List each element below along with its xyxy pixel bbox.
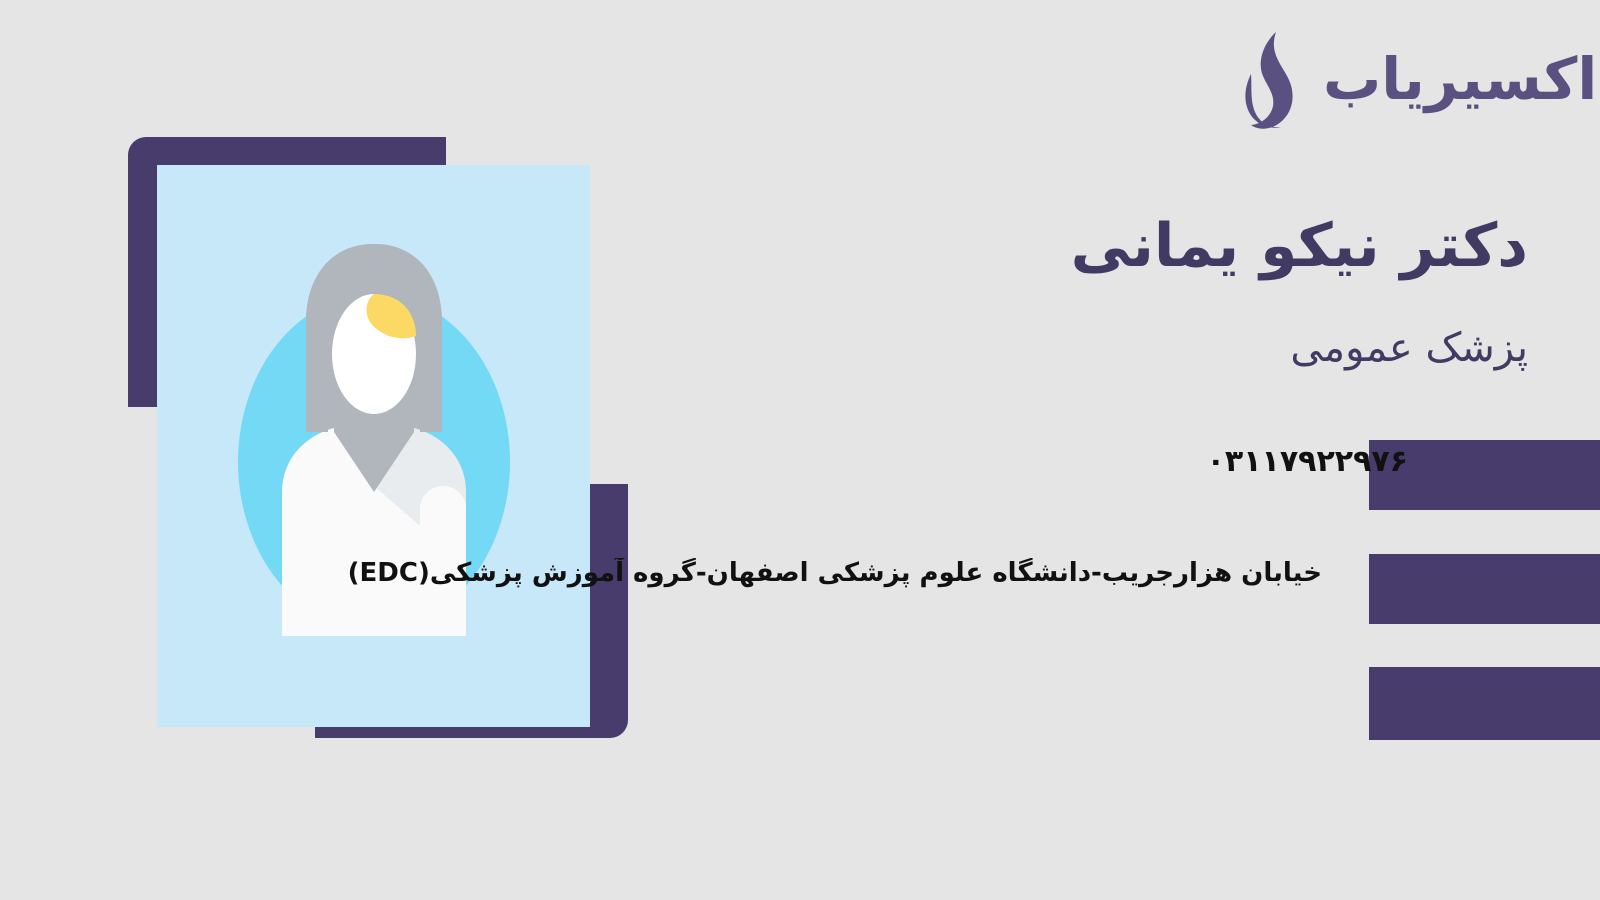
doctor-address: خیابان هزارجریب-دانشگاه علوم پزشکی اصفها…	[0, 558, 1322, 588]
doctor-info: دکتر نیکو یمانی پزشک عمومی	[528, 210, 1528, 372]
edge-bar-3	[1369, 667, 1600, 740]
doctor-specialty: پزشک عمومی	[528, 324, 1528, 372]
doctor-photo-card	[157, 165, 590, 727]
edge-bar-2	[1369, 554, 1600, 624]
doctor-name: دکتر نیکو یمانی	[528, 210, 1528, 282]
brand-wordmark: اکسیریاب	[1323, 50, 1597, 118]
female-doctor-avatar-icon	[224, 236, 524, 656]
flame-icon	[1221, 30, 1313, 138]
decorative-edge-bars	[1369, 440, 1600, 740]
business-card-canvas: اکسیریاب	[0, 0, 1600, 900]
brand-logo[interactable]: اکسیریاب	[1221, 28, 1531, 140]
doctor-phone[interactable]: ۰۳۱۱۷۹۲۲۹۷۶	[1207, 444, 1408, 479]
